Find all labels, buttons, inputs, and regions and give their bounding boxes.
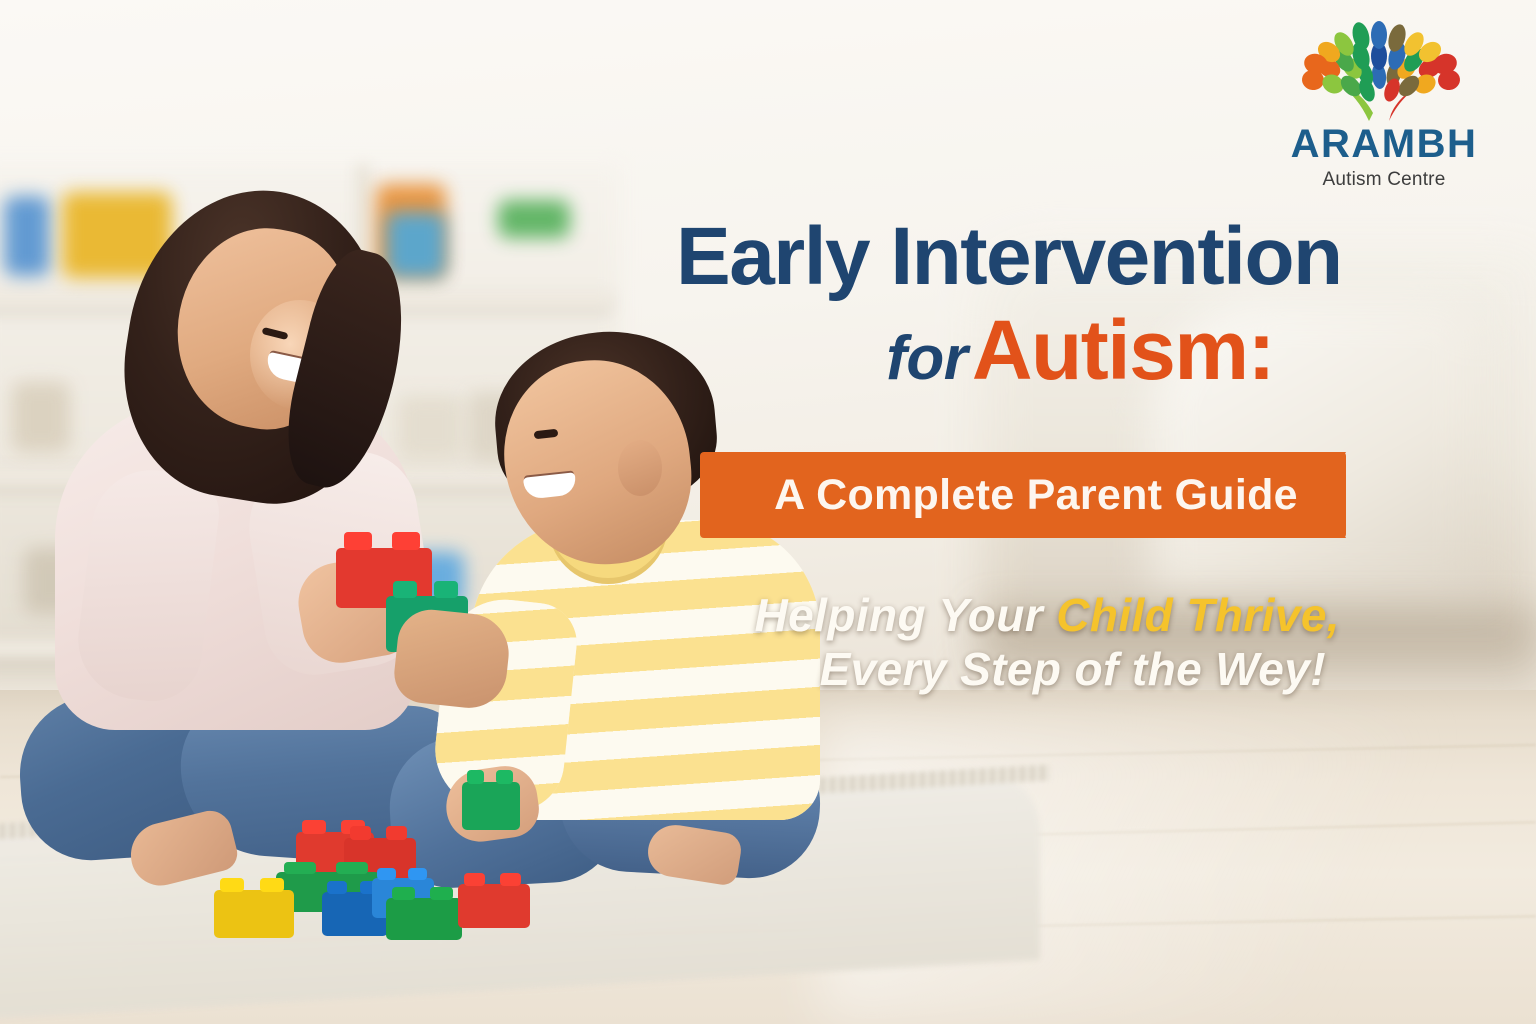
ribbon-label: A Complete Parent Guide: [700, 452, 1346, 538]
headline-autism: Autism:: [972, 303, 1274, 397]
tree-icon: [1299, 18, 1469, 122]
shelf-toy: [4, 196, 50, 276]
headline-line-1: Early Intervention: [676, 216, 1396, 298]
headline-line-2: for Autism:: [676, 308, 1396, 392]
shelf-toy: [386, 212, 446, 278]
tagline-line-1-prefix: Helping Your: [755, 589, 1057, 641]
brand-logo[interactable]: ARAMBH Autism Centre: [1284, 18, 1484, 191]
logo-subtitle: Autism Centre: [1284, 169, 1484, 191]
child-hand-holding: [391, 606, 512, 711]
floor-block-red: [458, 884, 530, 928]
shelf-toy: [398, 396, 464, 460]
floor-block-yellow: [214, 890, 294, 938]
headline-block: Early Intervention for Autism:: [676, 216, 1396, 392]
banner-canvas: ARAMBH Autism Centre Early Intervention …: [0, 0, 1536, 1024]
tagline-highlight: Child Thrive,: [1056, 589, 1340, 641]
shelf-toy: [12, 382, 70, 452]
held-block-green-small: [462, 782, 520, 830]
child-ear: [618, 440, 662, 496]
floor-block-green: [386, 898, 462, 940]
shelf-toy: [498, 200, 570, 238]
tagline-block: Helping Your Child Thrive, Every Step of…: [700, 588, 1340, 697]
headline-for: for: [886, 324, 967, 393]
tagline-line-2: Every Step of the Wey!: [700, 642, 1340, 696]
logo-name: ARAMBH: [1284, 124, 1484, 164]
